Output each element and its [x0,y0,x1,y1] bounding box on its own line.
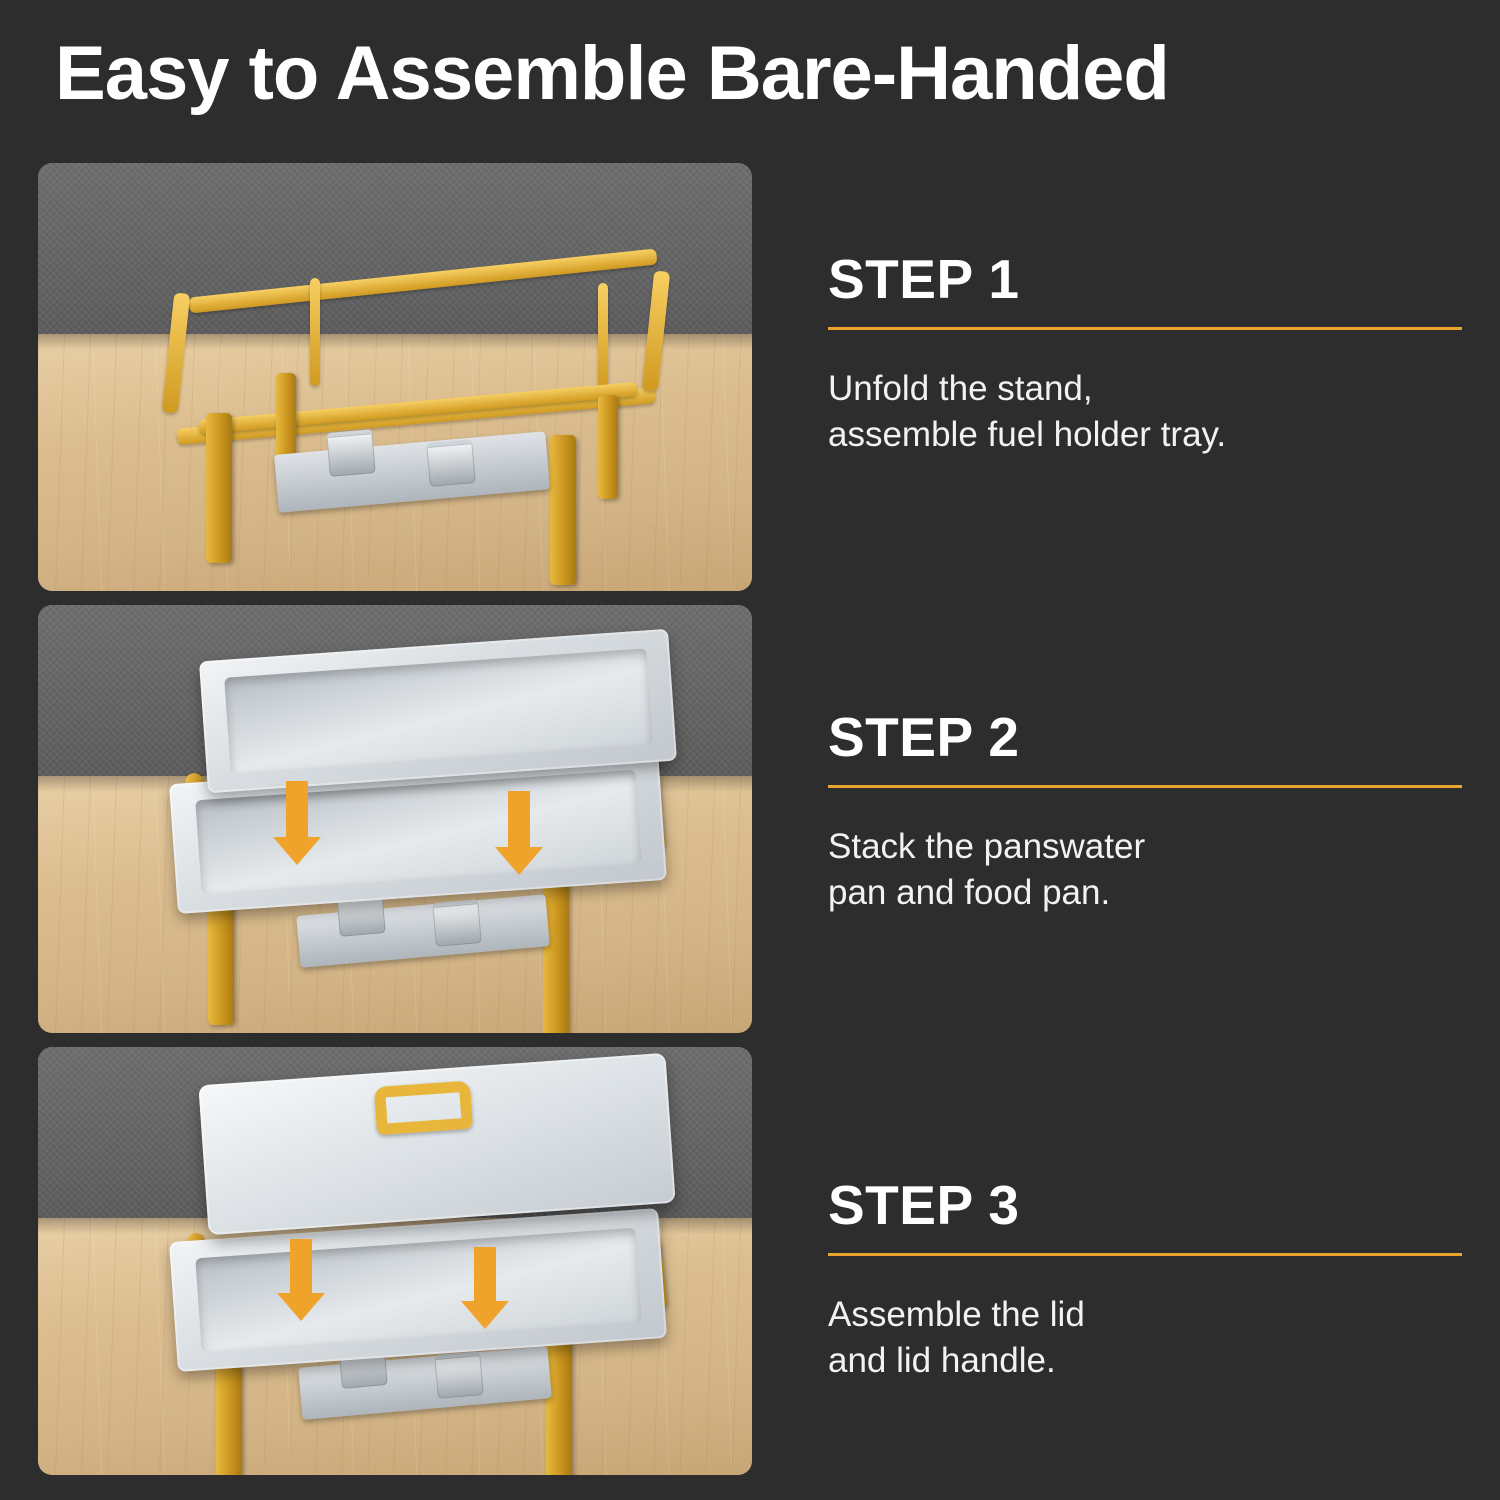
page-title: Easy to Assemble Bare-Handed [55,36,1465,112]
down-arrow-icon [474,1247,496,1303]
step-divider [828,1253,1462,1256]
fuel-can [432,899,482,947]
step-row: STEP 2 Stack the panswater pan and food … [38,605,1462,1033]
stand-leg-front-right [550,435,576,585]
step-2-image [38,605,752,1033]
fuel-can [326,429,376,477]
step-description: Unfold the stand, assemble fuel holder t… [828,366,1462,458]
stand-leg-back-right [598,395,618,499]
step-1-image [38,163,752,591]
step-1-info: STEP 1 Unfold the stand, assemble fuel h… [828,163,1462,591]
food-pan-basin [224,649,653,773]
step-3-info: STEP 3 Assemble the lid and lid handle. [828,1047,1462,1475]
step-title: STEP 1 [828,247,1462,311]
down-arrow-icon [290,1239,312,1295]
stand-leg-front-left [206,413,232,563]
stand-leg-front-right [546,1329,572,1475]
step-description-line: Assemble the lid [828,1292,1462,1338]
down-arrow-icon [286,781,308,839]
product-infographic: Easy to Assemble Bare-Handed [0,0,1500,1500]
step-title: STEP 2 [828,705,1462,769]
step-row: STEP 3 Assemble the lid and lid handle. [38,1047,1462,1475]
step-description-line: Stack the panswater [828,824,1462,870]
stand-clip-right [598,283,608,391]
step-row: STEP 1 Unfold the stand, assemble fuel h… [38,163,1462,591]
step-divider [828,327,1462,330]
step-description-line: assemble fuel holder tray. [828,412,1462,458]
fuel-can [426,439,476,487]
down-arrow-icon [508,791,530,849]
fuel-can [434,1351,484,1399]
lid-handle [374,1081,473,1136]
step-3-image [38,1047,752,1475]
step-description-line: and lid handle. [828,1338,1462,1384]
step-title: STEP 3 [828,1173,1462,1237]
assembled-pan-basin [195,1228,641,1352]
stand-leg-front-right [543,877,569,1033]
step-description-line: pan and food pan. [828,870,1462,916]
step-description: Assemble the lid and lid handle. [828,1292,1462,1384]
table-edge-shadow [38,334,752,350]
step-description-line: Unfold the stand, [828,366,1462,412]
steps-list: STEP 1 Unfold the stand, assemble fuel h… [38,163,1462,1463]
step-description: Stack the panswater pan and food pan. [828,824,1462,916]
stand-clip-left [310,278,320,386]
step-2-info: STEP 2 Stack the panswater pan and food … [828,605,1462,1033]
step-divider [828,785,1462,788]
